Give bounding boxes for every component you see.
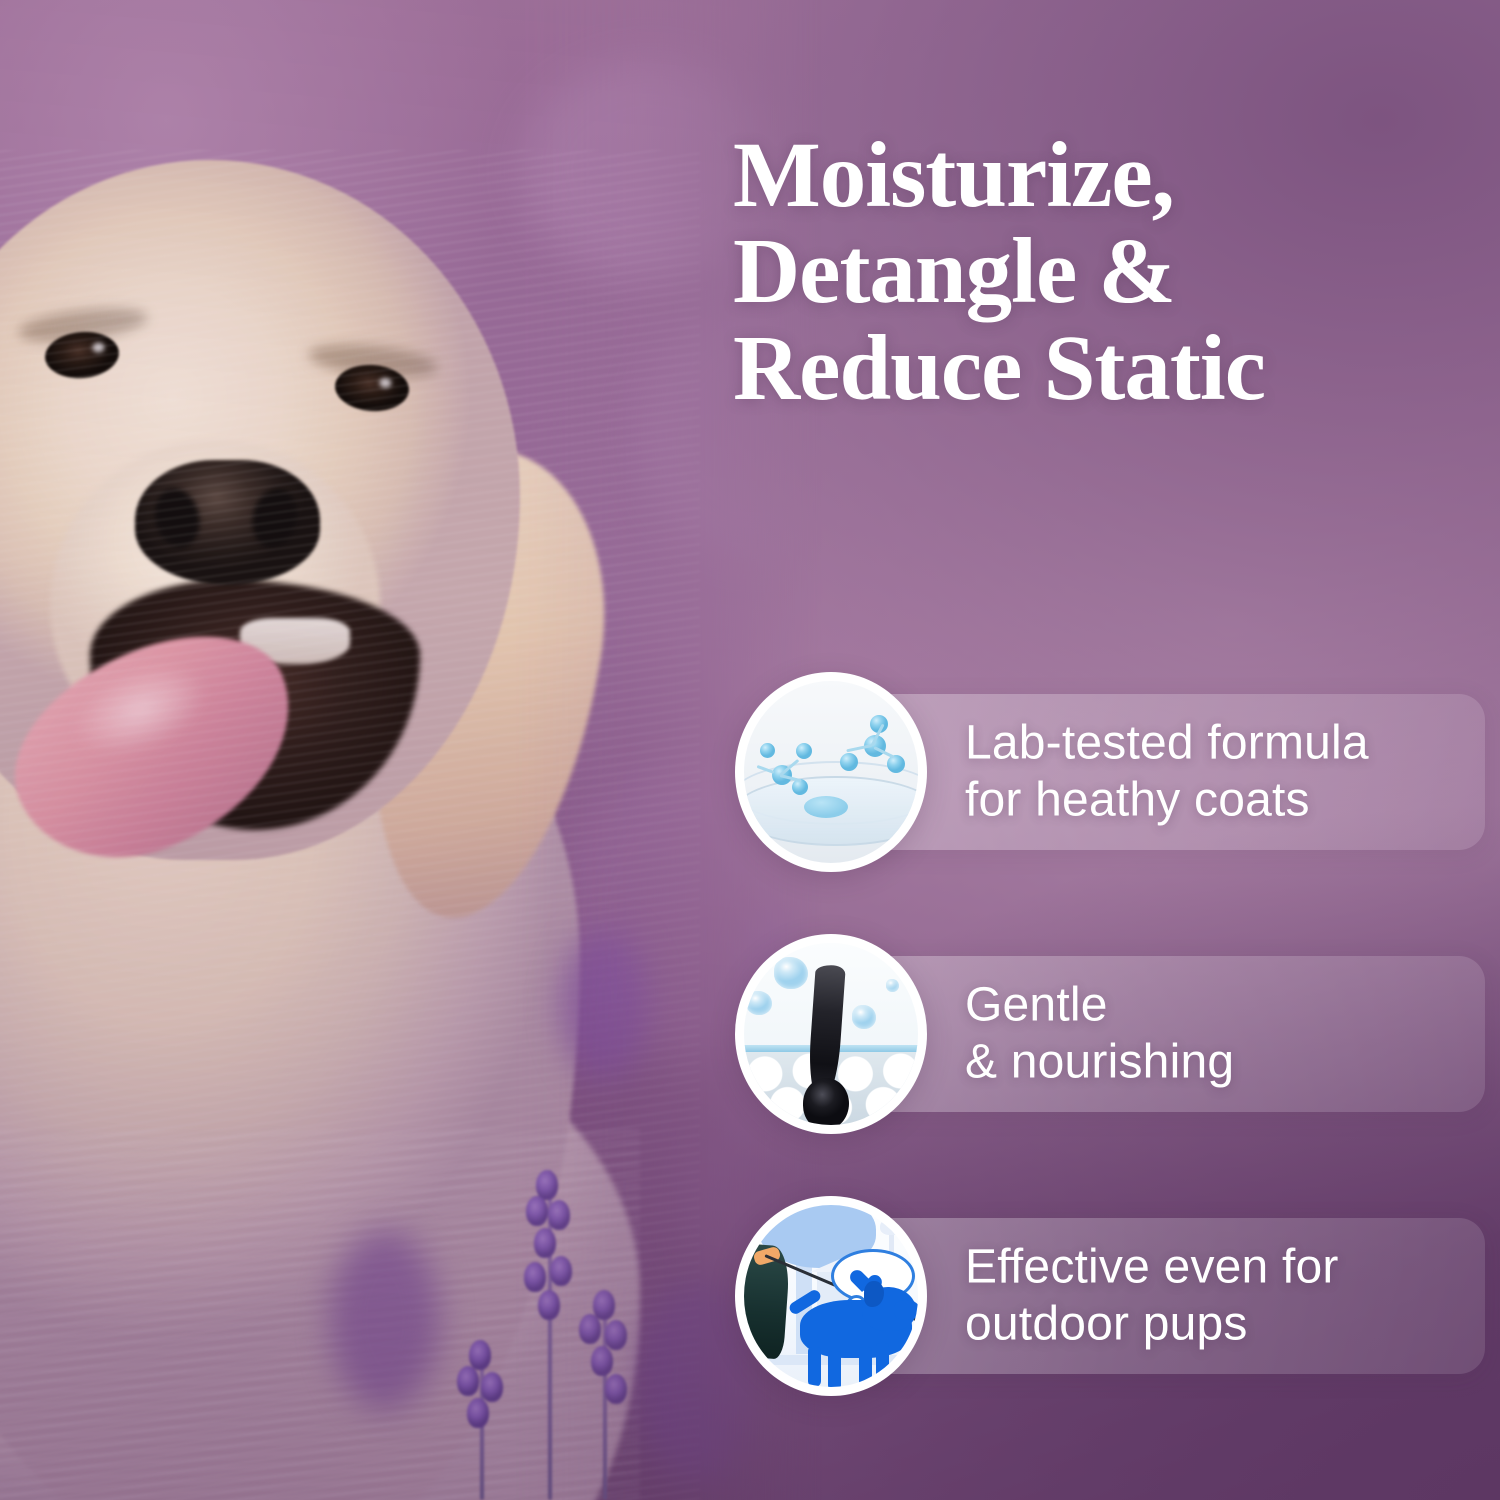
feature-badge (735, 934, 927, 1134)
dog-photo (0, 0, 830, 1500)
page-title: Moisturize, Detangle & Reduce Static (733, 128, 1493, 417)
hair-follicle-icon (744, 943, 918, 1125)
feature-label: Effective even for outdoor pups (965, 1239, 1339, 1352)
headline-line-3: Reduce Static (733, 321, 1493, 417)
feature-badge (735, 1196, 927, 1396)
dog-walking-icon (744, 1205, 918, 1387)
feature-item-outdoor: Effective even for outdoor pups (735, 1196, 1447, 1396)
headline-line-1: Moisturize, (733, 128, 1493, 224)
feature-label: Lab-tested formula for heathy coats (965, 715, 1369, 828)
promo-banner: Moisturize, Detangle & Reduce Static (0, 0, 1500, 1500)
photo-purple-tint (0, 0, 830, 1500)
feature-item-lab-tested: Lab-tested formula for heathy coats (735, 672, 1447, 872)
feature-list: Lab-tested formula for heathy coats Gent (735, 672, 1447, 1396)
feature-label: Gentle & nourishing (965, 977, 1234, 1090)
feature-item-gentle: Gentle & nourishing (735, 934, 1447, 1134)
petri-dish-molecule-icon (744, 681, 918, 863)
feature-badge (735, 672, 927, 872)
headline-line-2: Detangle & (733, 224, 1493, 320)
